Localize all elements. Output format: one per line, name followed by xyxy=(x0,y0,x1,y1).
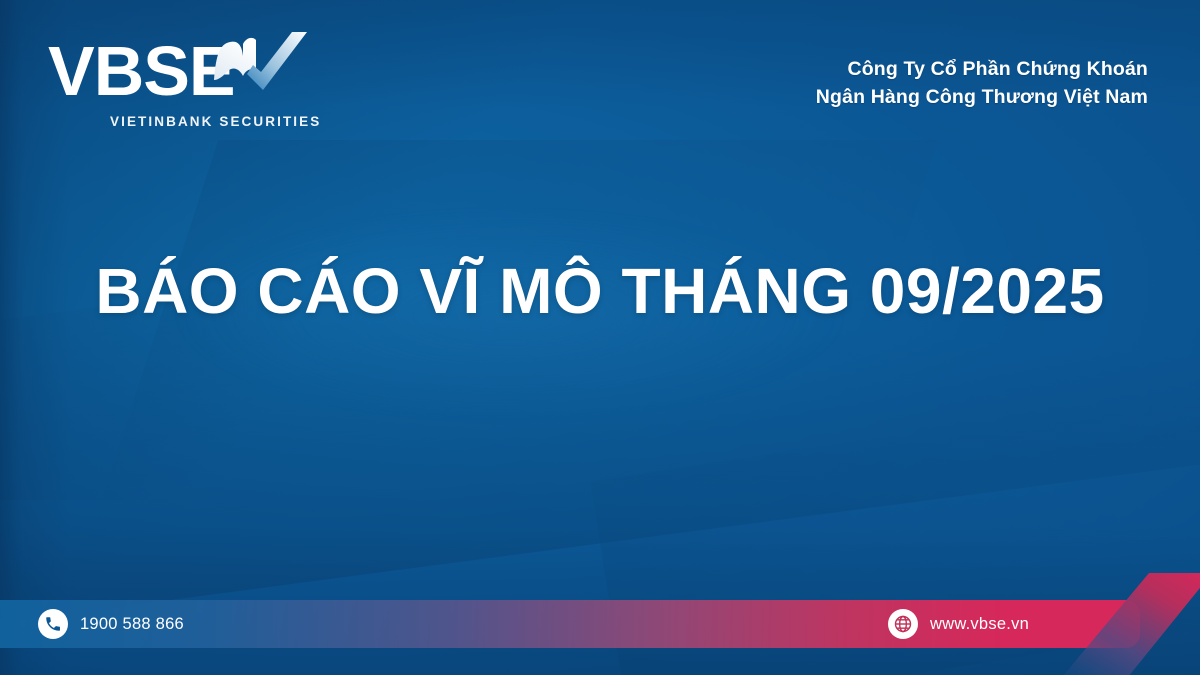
footer-website-label: www.vbse.vn xyxy=(930,615,1029,634)
footer-website[interactable]: www.vbse.vn xyxy=(888,608,1029,640)
logo-tagline: VIETINBANK SECURITIES xyxy=(110,114,321,129)
logo-wordmark: VBSE xyxy=(48,36,235,106)
footer-phone[interactable]: 1900 588 866 xyxy=(38,608,184,640)
phone-icon xyxy=(38,609,68,639)
corporate-name-line-1: Công Ty Cổ Phần Chứng Khoán xyxy=(816,56,1148,84)
corporate-name-line-2: Ngân Hàng Công Thương Việt Nam xyxy=(816,84,1148,112)
corporate-name: Công Ty Cổ Phần Chứng Khoán Ngân Hàng Cô… xyxy=(816,56,1148,111)
page-title: BÁO CÁO VĨ MÔ THÁNG 09/2025 xyxy=(0,258,1200,325)
report-cover-slide: VBSE VIETINBANK SECURITIES xyxy=(0,0,1200,675)
footer-phone-label: 1900 588 866 xyxy=(80,615,184,634)
globe-icon xyxy=(888,609,918,639)
vbse-logo: VBSE VIETINBANK SECURITIES xyxy=(48,30,298,136)
